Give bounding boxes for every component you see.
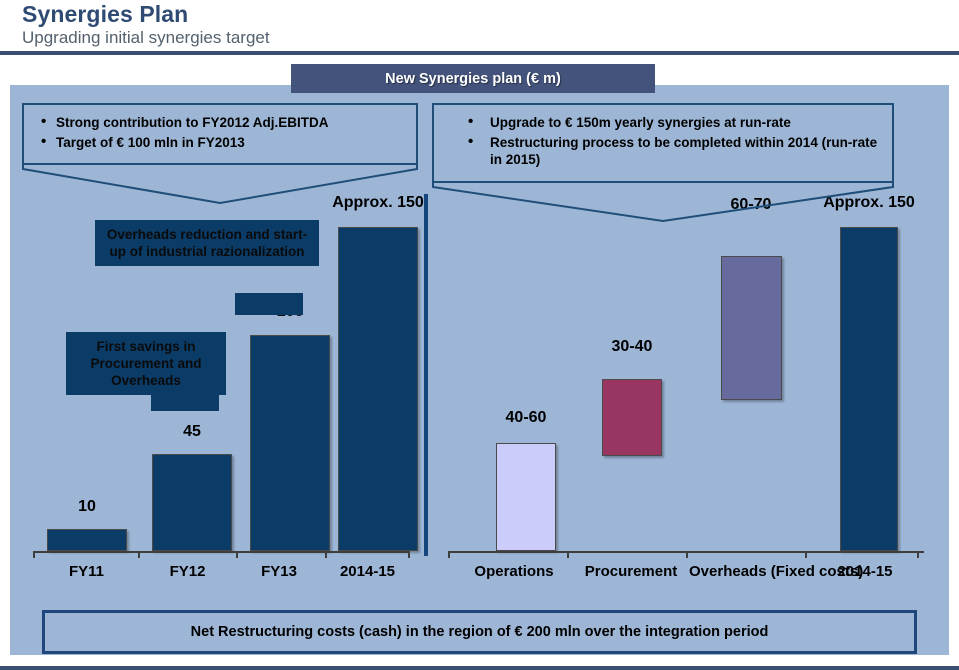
cat-label-fy12: FY12	[140, 562, 235, 581]
bar-2014-15[interactable]	[338, 227, 418, 551]
bar-value-fy11: 10	[47, 498, 127, 516]
callout-right: Upgrade to € 150m yearly synergies at ru…	[432, 103, 894, 223]
bar-fy11[interactable]	[47, 529, 127, 551]
callout-right-bullet-2: Restructuring process to be completed wi…	[490, 134, 880, 169]
callout-left-bullet-2: Target of € 100 mln in FY2013	[56, 134, 404, 152]
bar-overheads[interactable]	[721, 256, 782, 400]
footer-note-box: Net Restructuring costs (cash) in the re…	[42, 610, 917, 654]
cat-label-fy11: FY11	[39, 562, 134, 581]
slide-header: Synergies Plan Upgrading initial synergi…	[0, 0, 959, 56]
callout-left-bullets: Strong contribution to FY2012 Adj.EBITDA…	[36, 114, 404, 151]
bar-2014-15-right[interactable]	[840, 227, 898, 551]
axis-tick-r2	[686, 551, 688, 558]
chart-synergies-by-source: 40-60 30-40 60-70 Approx. 150 Operations…	[440, 190, 930, 590]
axis-tick-2	[236, 551, 238, 558]
bar-value-procurement: 30-40	[587, 338, 677, 356]
axis-tick-3	[325, 551, 327, 558]
axis-tick-r4	[917, 551, 919, 558]
callout-right-body: Upgrade to € 150m yearly synergies at ru…	[432, 103, 894, 183]
bar-value-fy12: 45	[152, 423, 232, 441]
cat-label-fy13: FY13	[233, 562, 325, 581]
annotation-overheads-reduction-stem	[235, 293, 303, 315]
callout-right-tail	[432, 183, 894, 223]
slide-root: Synergies Plan Upgrading initial synergi…	[0, 0, 959, 670]
bar-fy13[interactable]	[250, 335, 330, 551]
bar-fy12[interactable]	[152, 454, 232, 551]
footer-divider	[0, 666, 959, 670]
callout-left-body: Strong contribution to FY2012 Adj.EBITDA…	[22, 103, 418, 165]
annotation-first-savings: First savings in Procurement and Overhea…	[66, 332, 226, 395]
axis-tick-0	[33, 551, 35, 558]
cat-label-procurement: Procurement	[571, 562, 691, 581]
callout-left-bullet-1: Strong contribution to FY2012 Adj.EBITDA	[56, 114, 404, 132]
annotation-overheads-reduction: Overheads reduction and start-up of indu…	[95, 220, 319, 266]
x-axis-left	[33, 551, 409, 553]
bar-operations[interactable]	[496, 443, 556, 551]
callout-right-bullets: Upgrade to € 150m yearly synergies at ru…	[446, 114, 880, 169]
header-divider	[0, 51, 959, 55]
callout-left: Strong contribution to FY2012 Adj.EBITDA…	[22, 103, 418, 205]
charts-divider	[424, 194, 428, 556]
axis-tick-r1	[567, 551, 569, 558]
axis-tick-r3	[805, 551, 807, 558]
chart-banner-title: New Synergies plan (€ m)	[291, 64, 655, 93]
chart-synergies-by-year: 10 45 100 Approx. 150 Overheads reductio…	[25, 190, 415, 590]
cat-label-2014-15-right: 2014-15	[815, 562, 915, 581]
page-title: Synergies Plan	[22, 1, 188, 28]
callout-right-bullet-1: Upgrade to € 150m yearly synergies at ru…	[490, 114, 880, 132]
bar-value-operations: 40-60	[481, 409, 571, 427]
axis-tick-1	[138, 551, 140, 558]
page-subtitle: Upgrading initial synergies target	[22, 28, 270, 48]
cat-label-2014-15: 2014-15	[325, 562, 410, 581]
cat-label-operations: Operations	[459, 562, 569, 581]
callout-left-tail	[22, 165, 418, 205]
bar-procurement[interactable]	[602, 379, 662, 456]
annotation-first-savings-stem	[151, 391, 219, 411]
footer-note-text: Net Restructuring costs (cash) in the re…	[191, 624, 769, 640]
cat-label-overheads: Overheads (Fixed costs)	[689, 562, 811, 581]
axis-tick-4	[408, 551, 410, 558]
axis-tick-r0	[448, 551, 450, 558]
